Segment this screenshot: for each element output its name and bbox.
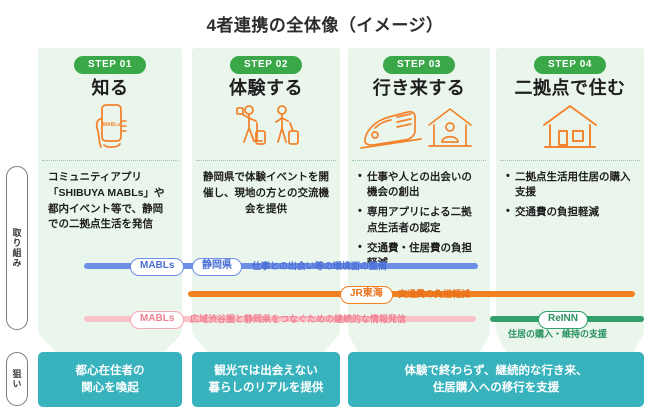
step-badge-2: STEP 02 (230, 56, 302, 74)
step-body-4: 二拠点生活用住居の購入支援 交通費の負担軽減 (506, 170, 634, 226)
smartphone-icon: MABLs (38, 100, 182, 152)
step-heading-1: 知る (38, 74, 182, 100)
card-divider-2 (196, 160, 336, 161)
infographic-root: 4者連携の全体像（イメージ） 取り組み 狙い STEP 01 知る MABLs … (0, 0, 650, 420)
flow-text-blue: 仕事との出会い等の環境面の整備 (252, 262, 387, 271)
row-label-aims: 狙い (6, 352, 28, 406)
step-bullets-3: 仕事や人との出会いの機会の創出 専用アプリによる二拠点生活者の認定 交通費・住居… (358, 170, 480, 271)
step-badge-4: STEP 04 (534, 56, 606, 74)
row-label-aims-text: 狙い (11, 369, 24, 389)
smartphone-screen-label: MABLs (103, 122, 120, 128)
flow-pill-jrtokai: JR東海 (340, 286, 393, 304)
list-item: 二拠点生活用住居の購入支援 (506, 170, 634, 200)
flow-pill-mabls-blue: MABLs (130, 258, 184, 276)
flow-pill-shizuoka: 静岡県 (192, 258, 242, 276)
funnel-shape-2 (192, 334, 340, 354)
step-heading-2: 体験する (192, 74, 340, 100)
flow-text-orange: 交通費の負担軽減 (398, 290, 470, 299)
step-badge-3: STEP 03 (383, 56, 455, 74)
card-divider-4 (500, 160, 640, 161)
flow-text-pink: 広域渋谷圏と静岡県をつなぐための継続的な情報発信 (190, 315, 406, 324)
step-heading-3: 行き来する (348, 74, 490, 100)
house-icon (496, 100, 644, 152)
travelers-with-luggage-icon (192, 100, 340, 152)
step-body-2: 静岡県で体験イベントを開催し、現地の方との交流機会を提供 (202, 170, 330, 217)
step-body-1: コミュニティアプリ「SHIBUYA MABLs」や都内イベント等で、静岡での二拠… (48, 170, 172, 233)
step-card-1: STEP 01 知る MABLs コミュニティアプリ「SHIBUYA MABLs… (38, 48, 182, 334)
goal-box-2: 観光では出会えない暮らしのリアルを提供 (192, 352, 340, 407)
card-divider-1 (42, 160, 178, 161)
list-item: 専用アプリによる二拠点生活者の認定 (358, 205, 480, 235)
goal-box-3: 体験で終わらず、継続的な行き来、住居購入への移行を支援 (348, 352, 644, 407)
row-label-efforts-text: 取り組み (11, 228, 24, 268)
funnel-shape-1 (38, 334, 182, 354)
goal-box-1: 都心在住者の関心を喚起 (38, 352, 182, 407)
list-item: 仕事や人との出会いの機会の創出 (358, 170, 480, 200)
flow-caption-green: 住居の購入・維持の支援 (508, 327, 607, 340)
shinkansen-and-house-icon (348, 100, 490, 152)
step-bullets-4: 二拠点生活用住居の購入支援 交通費の負担軽減 (506, 170, 634, 221)
row-label-efforts: 取り組み (6, 166, 28, 330)
funnel-shape-3 (348, 334, 490, 354)
list-item: 交通費の負担軽減 (506, 205, 634, 220)
page-title: 4者連携の全体像（イメージ） (0, 11, 650, 36)
step-badge-1: STEP 01 (74, 56, 146, 74)
flow-pill-reinn: ReINN (538, 311, 588, 329)
card-divider-3 (352, 160, 486, 161)
step-heading-4: 二拠点で住む (496, 74, 644, 100)
flow-pill-mabls-pink: MABLs (130, 311, 184, 329)
